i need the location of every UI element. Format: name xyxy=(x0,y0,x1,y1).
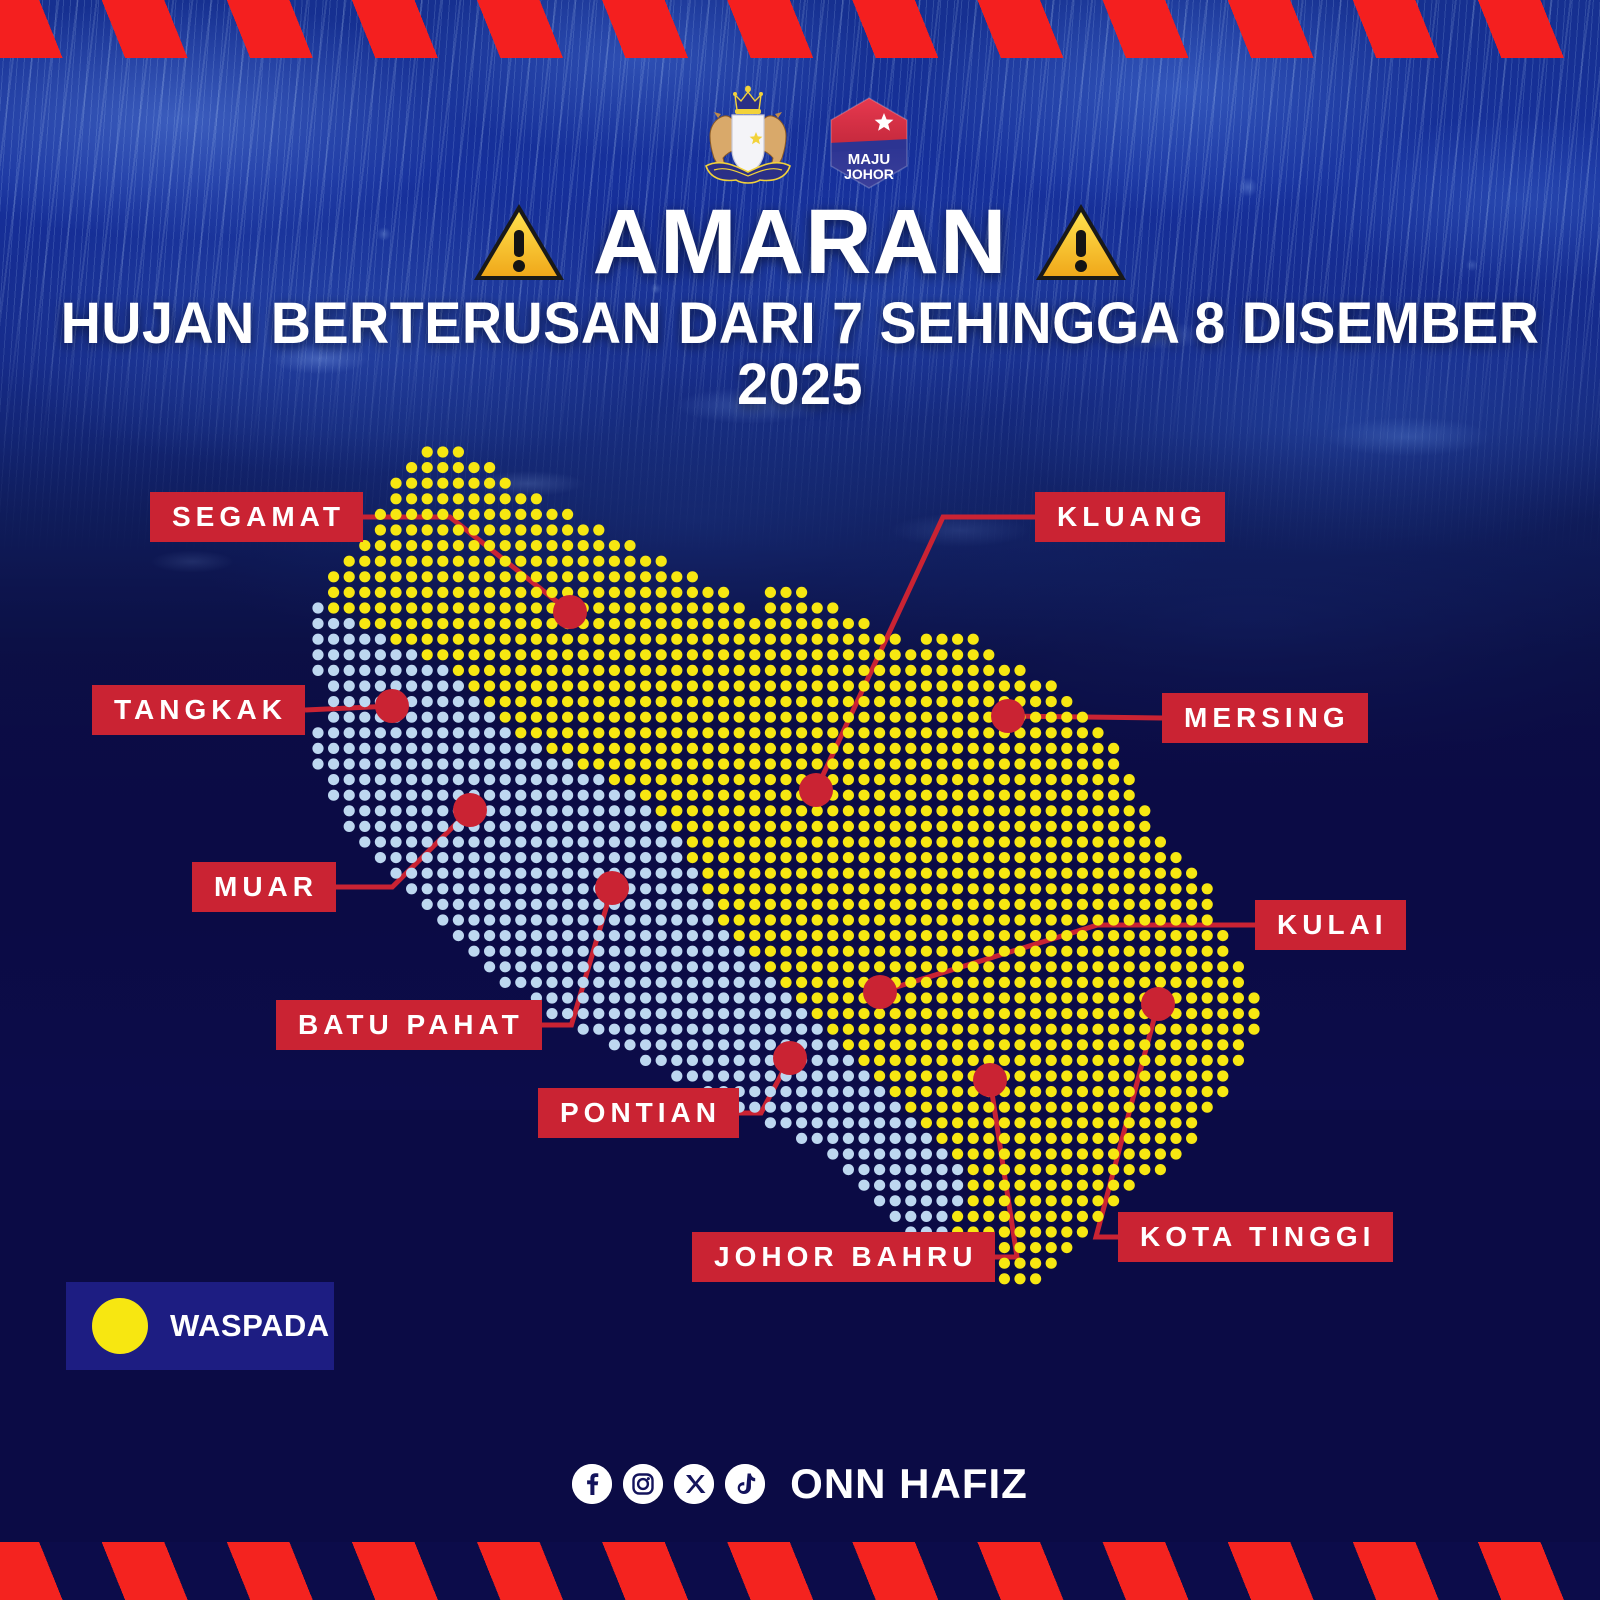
map-dot xyxy=(734,712,745,723)
map-dot xyxy=(515,712,526,723)
maju-logo-line2: JOHOR xyxy=(844,166,894,182)
map-dot xyxy=(562,712,573,723)
map-dot xyxy=(890,961,901,972)
map-dot xyxy=(983,727,994,738)
map-dot xyxy=(406,712,417,723)
map-dot xyxy=(1217,1086,1228,1097)
map-dot xyxy=(1170,977,1181,988)
map-dot xyxy=(515,790,526,801)
map-dot xyxy=(999,1148,1010,1159)
map-dot xyxy=(687,1070,698,1081)
map-dot xyxy=(999,977,1010,988)
map-dot xyxy=(999,1226,1010,1237)
map-dot xyxy=(656,961,667,972)
map-dot xyxy=(1046,868,1057,879)
map-dot xyxy=(656,680,667,691)
map-dot xyxy=(999,1102,1010,1113)
map-dot xyxy=(468,727,479,738)
map-dot xyxy=(702,914,713,925)
map-dot xyxy=(468,478,479,489)
map-dot xyxy=(999,1133,1010,1144)
tiktok-icon[interactable] xyxy=(725,1464,765,1504)
map-dot xyxy=(1046,727,1057,738)
map-dot xyxy=(422,680,433,691)
map-dot xyxy=(546,758,557,769)
map-dot xyxy=(484,868,495,879)
map-dot xyxy=(328,743,339,754)
map-dot xyxy=(578,649,589,660)
map-dot xyxy=(422,883,433,894)
map-dot xyxy=(968,1055,979,1066)
map-dot xyxy=(671,1039,682,1050)
map-dot xyxy=(531,743,542,754)
map-dot xyxy=(437,556,448,567)
map-dot xyxy=(765,758,776,769)
map-dot xyxy=(500,509,511,520)
map-dot xyxy=(656,587,667,598)
map-dot xyxy=(453,602,464,613)
map-dot xyxy=(624,946,635,957)
map-dot xyxy=(390,836,401,847)
map-dot xyxy=(437,899,448,910)
map-dot xyxy=(390,509,401,520)
map-dot xyxy=(624,758,635,769)
map-dot xyxy=(702,634,713,645)
map-pin-batu-pahat[interactable] xyxy=(595,871,629,905)
map-dot xyxy=(890,790,901,801)
map-dot xyxy=(1202,1039,1213,1050)
map-dot xyxy=(437,587,448,598)
map-dot xyxy=(968,961,979,972)
map-dot xyxy=(1030,805,1041,816)
map-dot xyxy=(702,790,713,801)
map-dot xyxy=(874,914,885,925)
map-dot xyxy=(718,992,729,1003)
map-dot xyxy=(780,868,791,879)
map-dot xyxy=(812,1133,823,1144)
map-dot xyxy=(422,462,433,473)
map-dot xyxy=(843,743,854,754)
map-dot xyxy=(687,852,698,863)
map-dot xyxy=(1030,883,1041,894)
map-dot xyxy=(843,649,854,660)
map-dot xyxy=(422,446,433,457)
map-dot xyxy=(578,774,589,785)
map-label-segamat[interactable]: SEGAMAT xyxy=(150,492,363,542)
map-dot xyxy=(734,1070,745,1081)
map-dot xyxy=(624,571,635,582)
map-dot xyxy=(468,914,479,925)
map-dot xyxy=(687,868,698,879)
map-dot xyxy=(968,712,979,723)
map-pin-pontian[interactable] xyxy=(773,1041,807,1075)
map-dot xyxy=(1092,992,1103,1003)
map-dot xyxy=(1030,1195,1041,1206)
map-dot xyxy=(905,977,916,988)
map-dot xyxy=(593,618,604,629)
map-dot xyxy=(936,1148,947,1159)
map-dot xyxy=(422,899,433,910)
map-dot xyxy=(390,493,401,504)
map-dot xyxy=(749,758,760,769)
map-dot xyxy=(1061,821,1072,832)
map-dot xyxy=(1014,1008,1025,1019)
map-dot xyxy=(609,946,620,957)
map-dot xyxy=(437,571,448,582)
map-dot xyxy=(1014,665,1025,676)
map-dot xyxy=(936,743,947,754)
x-icon[interactable] xyxy=(674,1464,714,1504)
map-dot xyxy=(765,852,776,863)
map-dot xyxy=(312,634,323,645)
map-dot xyxy=(312,649,323,660)
map-label-kulai[interactable]: KULAI xyxy=(1255,900,1406,950)
map-dot xyxy=(983,680,994,691)
map-dot xyxy=(780,977,791,988)
map-pin-johor-bahru[interactable] xyxy=(973,1063,1007,1097)
map-dot xyxy=(375,634,386,645)
map-dot xyxy=(1155,852,1166,863)
map-dot xyxy=(1014,743,1025,754)
map-dot xyxy=(780,821,791,832)
map-dot xyxy=(1092,1211,1103,1222)
map-dot xyxy=(546,977,557,988)
map-dot xyxy=(968,1211,979,1222)
map-dot xyxy=(843,758,854,769)
map-dot xyxy=(640,665,651,676)
map-dot xyxy=(905,1039,916,1050)
map-dot xyxy=(671,743,682,754)
map-dot xyxy=(687,961,698,972)
map-dot xyxy=(656,634,667,645)
map-dot xyxy=(796,696,807,707)
map-dot xyxy=(687,774,698,785)
map-dot xyxy=(718,899,729,910)
map-dot xyxy=(749,1039,760,1050)
map-dot xyxy=(484,524,495,535)
map-dot xyxy=(827,1055,838,1066)
map-pin-kulai[interactable] xyxy=(863,975,897,1009)
map-dot xyxy=(671,680,682,691)
map-dot xyxy=(921,961,932,972)
map-pin-muar[interactable] xyxy=(453,793,487,827)
map-dot xyxy=(562,556,573,567)
map-dot xyxy=(843,1039,854,1050)
map-dot xyxy=(1077,899,1088,910)
map-dot xyxy=(983,821,994,832)
map-dot xyxy=(921,665,932,676)
map-dot xyxy=(1170,1055,1181,1066)
map-dot xyxy=(890,821,901,832)
map-label-batu-pahat[interactable]: BATU PAHAT xyxy=(276,1000,542,1050)
map-dot xyxy=(874,696,885,707)
map-dot xyxy=(640,899,651,910)
map-dot xyxy=(858,1117,869,1128)
map-dot xyxy=(1217,1055,1228,1066)
map-dot xyxy=(1014,1133,1025,1144)
map-dot xyxy=(1046,1055,1057,1066)
map-dot xyxy=(874,805,885,816)
map-dot xyxy=(656,946,667,957)
map-dot xyxy=(546,992,557,1003)
map-dot xyxy=(1139,805,1150,816)
map-dot xyxy=(936,992,947,1003)
map-dot xyxy=(1202,1102,1213,1113)
map-dot xyxy=(484,914,495,925)
map-dot xyxy=(500,758,511,769)
map-dot xyxy=(983,649,994,660)
map-dot xyxy=(624,992,635,1003)
map-dot xyxy=(858,930,869,941)
map-dot xyxy=(905,696,916,707)
map-dot xyxy=(780,790,791,801)
map-dot xyxy=(983,1102,994,1113)
map-dot xyxy=(484,478,495,489)
map-dot xyxy=(640,852,651,863)
map-pin-tangkak[interactable] xyxy=(375,689,409,723)
map-dot xyxy=(1217,1039,1228,1050)
map-dot xyxy=(702,1024,713,1035)
map-dot xyxy=(1155,1102,1166,1113)
map-dot xyxy=(624,1008,635,1019)
map-dot xyxy=(406,524,417,535)
map-dot xyxy=(437,805,448,816)
map-dot xyxy=(484,758,495,769)
map-dot xyxy=(468,930,479,941)
map-dot xyxy=(1077,852,1088,863)
map-dot xyxy=(640,774,651,785)
map-dot xyxy=(609,602,620,613)
map-dot xyxy=(1030,930,1041,941)
map-dot xyxy=(734,696,745,707)
map-dot xyxy=(671,1055,682,1066)
map-dot xyxy=(702,1039,713,1050)
map-dot xyxy=(983,665,994,676)
map-dot xyxy=(983,1148,994,1159)
map-dot xyxy=(344,712,355,723)
map-dot xyxy=(1092,1180,1103,1191)
map-dot xyxy=(968,821,979,832)
map-dot xyxy=(1124,1180,1135,1191)
map-dot xyxy=(1139,1070,1150,1081)
map-dot xyxy=(671,930,682,941)
map-dot xyxy=(578,712,589,723)
map-dot xyxy=(968,836,979,847)
map-dot xyxy=(1046,977,1057,988)
map-dot xyxy=(1155,868,1166,879)
map-dot xyxy=(858,914,869,925)
map-dot xyxy=(796,821,807,832)
map-dot xyxy=(765,1102,776,1113)
map-dot xyxy=(890,696,901,707)
map-dot xyxy=(656,758,667,769)
map-dot xyxy=(1186,883,1197,894)
map-dot xyxy=(671,821,682,832)
map-dot xyxy=(437,446,448,457)
map-dot xyxy=(983,914,994,925)
map-dot xyxy=(422,805,433,816)
map-dot xyxy=(890,649,901,660)
map-dot xyxy=(687,1039,698,1050)
map-dot xyxy=(531,977,542,988)
map-dot xyxy=(468,618,479,629)
map-dot xyxy=(780,712,791,723)
map-dot xyxy=(1092,727,1103,738)
map-dot xyxy=(1061,1148,1072,1159)
map-dot xyxy=(1108,992,1119,1003)
map-dot xyxy=(1092,743,1103,754)
map-pin-segamat[interactable] xyxy=(553,595,587,629)
map-dot xyxy=(562,852,573,863)
map-dot xyxy=(1061,914,1072,925)
map-dot xyxy=(983,758,994,769)
map-dot xyxy=(640,634,651,645)
map-dot xyxy=(687,634,698,645)
map-dot xyxy=(749,821,760,832)
map-label-kluang[interactable]: KLUANG xyxy=(1035,492,1225,542)
map-dot xyxy=(952,712,963,723)
map-dot xyxy=(562,571,573,582)
map-dot xyxy=(921,727,932,738)
map-dot xyxy=(453,665,464,676)
map-dot xyxy=(1139,821,1150,832)
map-dot xyxy=(484,462,495,473)
map-pin-kota-tinggi[interactable] xyxy=(1141,987,1175,1021)
map-dot xyxy=(593,727,604,738)
map-dot xyxy=(484,930,495,941)
map-dot xyxy=(1248,1024,1259,1035)
map-dot xyxy=(765,1039,776,1050)
map-dot xyxy=(999,961,1010,972)
map-label-kota-tinggi[interactable]: KOTA TINGGI xyxy=(1118,1212,1393,1262)
map-dot xyxy=(718,1008,729,1019)
map-dot xyxy=(656,821,667,832)
map-dot xyxy=(1014,836,1025,847)
map-dot xyxy=(983,836,994,847)
map-dot xyxy=(734,836,745,847)
map-dot xyxy=(546,540,557,551)
map-dot xyxy=(406,587,417,598)
map-dot xyxy=(375,556,386,567)
map-dot xyxy=(874,1117,885,1128)
map-dot xyxy=(437,696,448,707)
map-dot xyxy=(796,727,807,738)
map-dot xyxy=(1124,1039,1135,1050)
map-dot xyxy=(406,602,417,613)
map-dot xyxy=(874,1024,885,1035)
map-dot xyxy=(375,805,386,816)
map-dot xyxy=(827,946,838,957)
map-dot xyxy=(500,478,511,489)
map-dot xyxy=(624,680,635,691)
map-dot xyxy=(1108,758,1119,769)
map-dot xyxy=(843,883,854,894)
map-dot xyxy=(1014,914,1025,925)
map-dot xyxy=(687,618,698,629)
map-dot xyxy=(765,743,776,754)
map-dot xyxy=(858,696,869,707)
map-dot xyxy=(437,680,448,691)
map-dot xyxy=(936,1195,947,1206)
map-dot xyxy=(656,852,667,863)
map-dot xyxy=(968,1180,979,1191)
map-label-muar[interactable]: MUAR xyxy=(192,862,336,912)
map-dot xyxy=(812,821,823,832)
map-dot xyxy=(1155,836,1166,847)
map-dot xyxy=(1092,1070,1103,1081)
map-dot xyxy=(640,946,651,957)
map-dot xyxy=(718,758,729,769)
map-dot xyxy=(546,743,557,754)
map-dot xyxy=(1061,696,1072,707)
map-dot xyxy=(827,712,838,723)
map-dot xyxy=(624,556,635,567)
map-dot xyxy=(1046,836,1057,847)
map-dot xyxy=(718,836,729,847)
map-label-johor-bahru[interactable]: JOHOR BAHRU xyxy=(692,1232,995,1282)
map-dot xyxy=(468,680,479,691)
map-dot xyxy=(905,680,916,691)
map-dot xyxy=(702,1055,713,1066)
map-label-mersing[interactable]: MERSING xyxy=(1162,693,1368,743)
map-dot xyxy=(890,1195,901,1206)
map-dot xyxy=(453,493,464,504)
map-dot xyxy=(1139,1086,1150,1097)
map-dot xyxy=(812,649,823,660)
map-dot xyxy=(1014,774,1025,785)
map-dot xyxy=(546,868,557,879)
map-label-tangkak[interactable]: TANGKAK xyxy=(92,685,305,735)
map-dot xyxy=(1170,1070,1181,1081)
map-dot xyxy=(1077,914,1088,925)
map-dot xyxy=(921,868,932,879)
map-dot xyxy=(1014,1024,1025,1035)
map-dot xyxy=(1014,1039,1025,1050)
map-dot xyxy=(328,774,339,785)
map-dot xyxy=(609,1039,620,1050)
map-dot xyxy=(1108,774,1119,785)
map-dot xyxy=(734,790,745,801)
map-dot xyxy=(500,946,511,957)
map-pin-mersing[interactable] xyxy=(991,699,1025,733)
map-label-pontian[interactable]: PONTIAN xyxy=(538,1088,739,1138)
map-dot xyxy=(858,805,869,816)
map-dot xyxy=(1092,774,1103,785)
map-dot xyxy=(1233,977,1244,988)
map-dot xyxy=(453,868,464,879)
map-dot xyxy=(593,524,604,535)
map-dot xyxy=(1092,977,1103,988)
facebook-icon[interactable] xyxy=(572,1464,612,1504)
instagram-icon[interactable] xyxy=(623,1464,663,1504)
map-dot xyxy=(1108,805,1119,816)
map-dot xyxy=(780,961,791,972)
map-dot xyxy=(812,634,823,645)
map-pin-kluang[interactable] xyxy=(799,773,833,807)
map-dot xyxy=(1077,1039,1088,1050)
logo-row: MAJU JOHOR xyxy=(0,78,1600,190)
map-dot xyxy=(1077,758,1088,769)
map-dot xyxy=(359,758,370,769)
map-dot xyxy=(1170,899,1181,910)
map-dot xyxy=(500,790,511,801)
map-dot xyxy=(718,1055,729,1066)
map-dot xyxy=(1217,930,1228,941)
map-dot xyxy=(983,805,994,816)
map-dot xyxy=(1124,1164,1135,1175)
map-dot xyxy=(1061,712,1072,723)
map-dot xyxy=(1233,1055,1244,1066)
